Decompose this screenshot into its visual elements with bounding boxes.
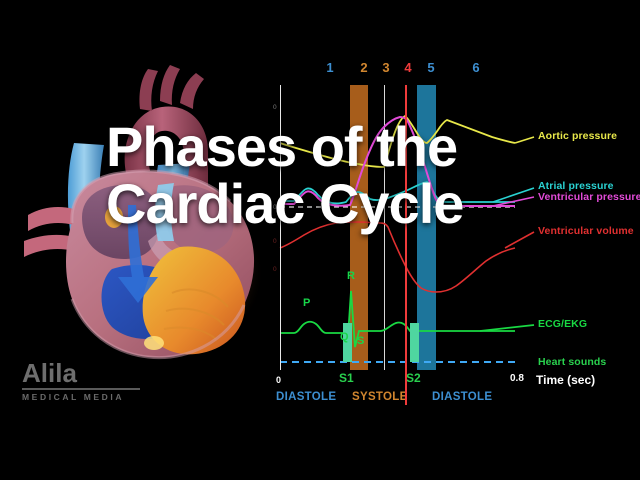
y-tick-lower: 0 — [273, 266, 277, 273]
x-axis-label: Time (sec) — [536, 373, 595, 387]
logo-divider — [22, 388, 140, 390]
x-tick-zero: 0 — [276, 375, 281, 385]
x-tick-end: 0.8 — [510, 373, 524, 384]
cycle-phase-diastole-2: DIASTOLE — [432, 391, 492, 403]
heart-sound-label-s1: S1 — [339, 371, 354, 385]
video-thumbnail: 1 2 3 4 5 6 — [0, 0, 640, 480]
y-tick-low: 0 — [273, 238, 277, 245]
title-line-1: Phases of the — [106, 115, 457, 178]
heart-sound-label-s2: S2 — [406, 371, 421, 385]
page-title: Phases of the Cardiac Cycle — [106, 118, 536, 232]
cycle-phase-diastole-1: DIASTOLE — [276, 391, 336, 403]
logo-name: Alila — [22, 360, 142, 386]
y-tick-upper: 0 — [273, 104, 277, 111]
brand-logo: Alila MEDICAL MEDIA — [22, 360, 142, 402]
logo-subtitle: MEDICAL MEDIA — [22, 392, 142, 402]
title-line-2: Cardiac Cycle — [106, 175, 536, 232]
cycle-phase-systole: SYSTOLE — [352, 391, 408, 403]
